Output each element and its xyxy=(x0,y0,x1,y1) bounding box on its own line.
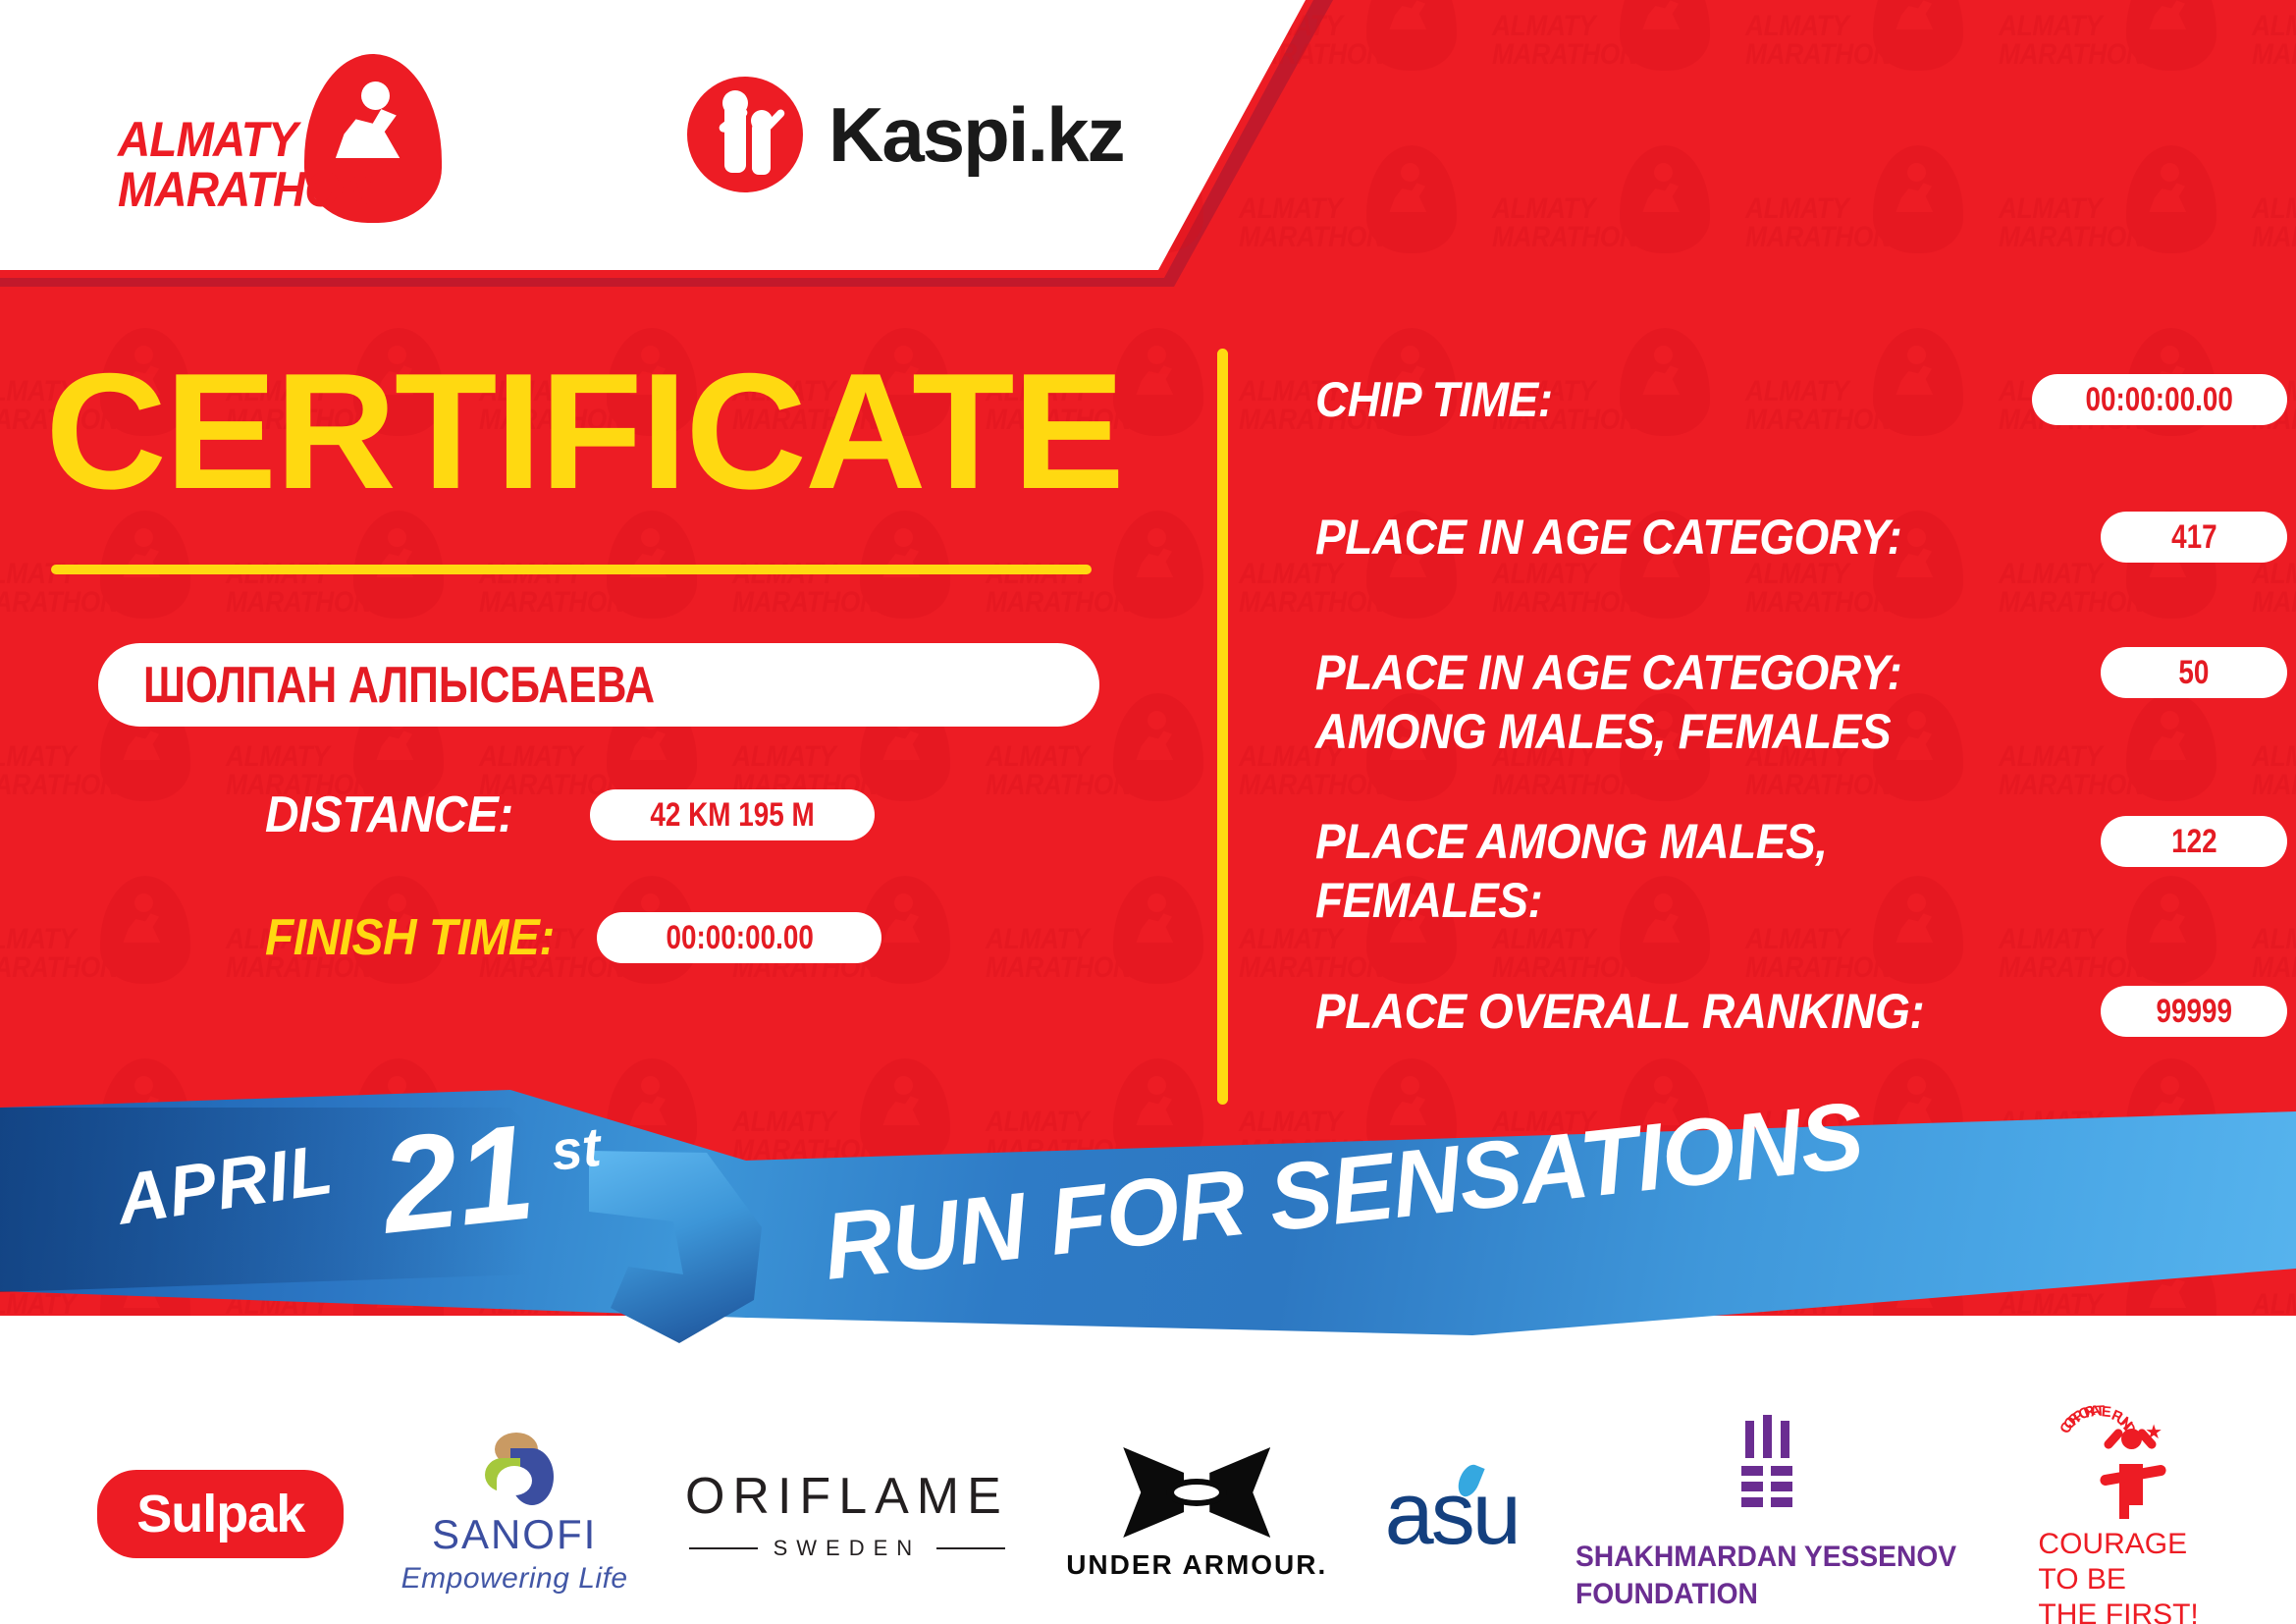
chip-time-label: CHIP TIME: xyxy=(1315,370,1553,429)
courage-line-1: COURAGE xyxy=(2038,1528,2187,1560)
sulpak-logo: Sulpak xyxy=(97,1470,344,1558)
chip-time-value: 00:00:00.00 xyxy=(2086,381,2233,419)
distance-value: 42 KM 195 M xyxy=(650,796,814,835)
ribbon-ordinal: st xyxy=(549,1114,604,1183)
sponsors-bar: Sulpak SANOFI Empowering Life ORIFLAME S… xyxy=(0,1404,2296,1624)
oriflame-country: SWEDEN xyxy=(774,1536,922,1561)
logo-line-marathon: MARATHON xyxy=(118,162,371,217)
chip-time-value-field: 00:00:00.00 xyxy=(2032,374,2287,425)
place-age-category-gender-value: 50 xyxy=(2178,654,2209,692)
results-column: CHIP TIME: 00:00:00.00 PLACE IN AGE CATE… xyxy=(1266,349,2296,1124)
sponsor-oriflame[interactable]: ORIFLAME SWEDEN xyxy=(685,1467,1009,1561)
place-overall-value-field: 99999 xyxy=(2101,986,2287,1037)
yessenov-foundation-icon xyxy=(1741,1415,1816,1513)
kaspi-people-icon xyxy=(687,77,803,192)
distance-row: DISTANCE: 42 KM 195 M xyxy=(265,785,875,844)
sponsor-sulpak[interactable]: Sulpak xyxy=(97,1470,344,1558)
oriflame-sub: SWEDEN xyxy=(689,1536,1006,1561)
column-divider xyxy=(1217,349,1228,1105)
sanofi-wordmark: SANOFI xyxy=(432,1511,597,1558)
oriflame-wordmark: ORIFLAME xyxy=(685,1467,1009,1526)
almaty-marathon-logo: ALMATY MARATHON xyxy=(118,54,442,216)
oriflame-rule-left xyxy=(689,1547,758,1549)
finish-time-value: 00:00:00.00 xyxy=(666,919,813,957)
kaspi-sponsor-logo[interactable]: Kaspi.kz xyxy=(687,71,1123,198)
place-age-category-gender-label: PLACE IN AGE CATEGORY: AMONG MALES, FEMA… xyxy=(1315,643,1901,761)
courage-wordmark: COURAGE TO BE THE FIRST! xyxy=(2038,1527,2198,1624)
title-underline-divider xyxy=(51,565,1092,574)
place-age-category-label: PLACE IN AGE CATEGORY: xyxy=(1315,508,1901,567)
asu-wordmark: asu xyxy=(1385,1470,1519,1558)
kaspi-wordmark: Kaspi.kz xyxy=(828,96,1123,173)
participant-name-field: ШОЛПАН АЛПЫСБАЕВА xyxy=(98,643,1099,727)
label-line-1: PLACE AMONG MALES, xyxy=(1315,814,1828,869)
place-age-category-gender-value-field: 50 xyxy=(2101,647,2287,698)
under-armour-icon xyxy=(1123,1447,1270,1538)
finish-time-value-field: 00:00:00.00 xyxy=(597,912,881,963)
finish-time-label: FINISH TIME: xyxy=(265,908,555,967)
place-among-gender-row: PLACE AMONG MALES, FEMALES: 122 xyxy=(1315,812,2287,930)
certificate-header: ALMATY MARATHON Kaspi.kz xyxy=(0,0,1315,270)
distance-label: DISTANCE: xyxy=(265,785,513,844)
label-line-2: FEMALES: xyxy=(1315,873,1542,928)
page-title: CERTIFICATE xyxy=(43,349,1125,514)
label-line-2: AMONG MALES, FEMALES xyxy=(1315,704,1891,759)
place-overall-value: 99999 xyxy=(2156,993,2232,1031)
almaty-marathon-wordmark: ALMATY MARATHON xyxy=(118,115,371,215)
place-overall-row: PLACE OVERALL RANKING: 99999 xyxy=(1315,982,2287,1041)
distance-value-field: 42 KM 195 M xyxy=(590,789,875,840)
place-among-gender-value: 122 xyxy=(2171,823,2217,861)
place-age-category-value-field: 417 xyxy=(2101,512,2287,563)
under-armour-wordmark: UNDER ARMOUR. xyxy=(1066,1549,1327,1581)
yessenov-foundation-wordmark: SHAKHMARDAN YESSENOV FOUNDATION xyxy=(1575,1539,1956,1613)
runner-head-icon xyxy=(361,81,390,110)
finish-time-row: FINISH TIME: 00:00:00.00 xyxy=(265,908,881,967)
place-among-gender-value-field: 122 xyxy=(2101,816,2287,867)
courage-line-2: TO BE xyxy=(2038,1563,2125,1596)
courage-to-be-first-icon: CORPORATE FUND ★ xyxy=(2055,1395,2182,1513)
chip-time-row: CHIP TIME: 00:00:00.00 xyxy=(1315,370,2287,429)
foundation-line-1: SHAKHMARDAN YESSENOV xyxy=(1575,1541,1956,1573)
sanofi-logo xyxy=(469,1433,560,1505)
place-overall-label: PLACE OVERALL RANKING: xyxy=(1315,982,1924,1041)
oriflame-rule-right xyxy=(936,1547,1005,1549)
certificate-page: ALMATYMARATHONALMATYMARATHONALMATYMARATH… xyxy=(0,0,2296,1624)
label-line-1: PLACE IN AGE CATEGORY: xyxy=(1315,645,1901,700)
place-age-category-row: PLACE IN AGE CATEGORY: 417 xyxy=(1315,508,2287,567)
participant-name-value: ШОЛПАН АЛПЫСБАЕВА xyxy=(143,656,655,715)
foundation-line-2: FOUNDATION xyxy=(1575,1578,1758,1610)
courage-line-3: THE FIRST! xyxy=(2038,1598,2198,1624)
left-column: CERTIFICATE ШОЛПАН АЛПЫСБАЕВА DISTANCE: … xyxy=(0,324,1158,1110)
sponsor-sanofi[interactable]: SANOFI Empowering Life xyxy=(401,1433,628,1596)
sanofi-tagline: Empowering Life xyxy=(401,1562,628,1596)
place-age-category-gender-row: PLACE IN AGE CATEGORY: AMONG MALES, FEMA… xyxy=(1315,643,2287,761)
event-ribbon-banner: APRIL 21 st RUN FOR SENSATIONS xyxy=(0,1090,2296,1384)
sponsor-yessenov-foundation[interactable]: SHAKHMARDAN YESSENOV FOUNDATION xyxy=(1575,1415,1981,1613)
place-among-gender-label: PLACE AMONG MALES, FEMALES: xyxy=(1315,812,1828,930)
ribbon-day: 21 xyxy=(376,1104,540,1254)
sponsor-under-armour[interactable]: UNDER ARMOUR. xyxy=(1066,1447,1327,1581)
logo-line-almaty: ALMATY xyxy=(118,112,297,167)
sponsor-courage-to-be-first[interactable]: CORPORATE FUND ★ COURAGE TO BE THE FIRST… xyxy=(2038,1395,2198,1624)
sponsor-asu[interactable]: asu xyxy=(1385,1470,1519,1558)
place-age-category-value: 417 xyxy=(2171,518,2217,557)
courage-figure-icon: ★ xyxy=(2106,1421,2161,1505)
